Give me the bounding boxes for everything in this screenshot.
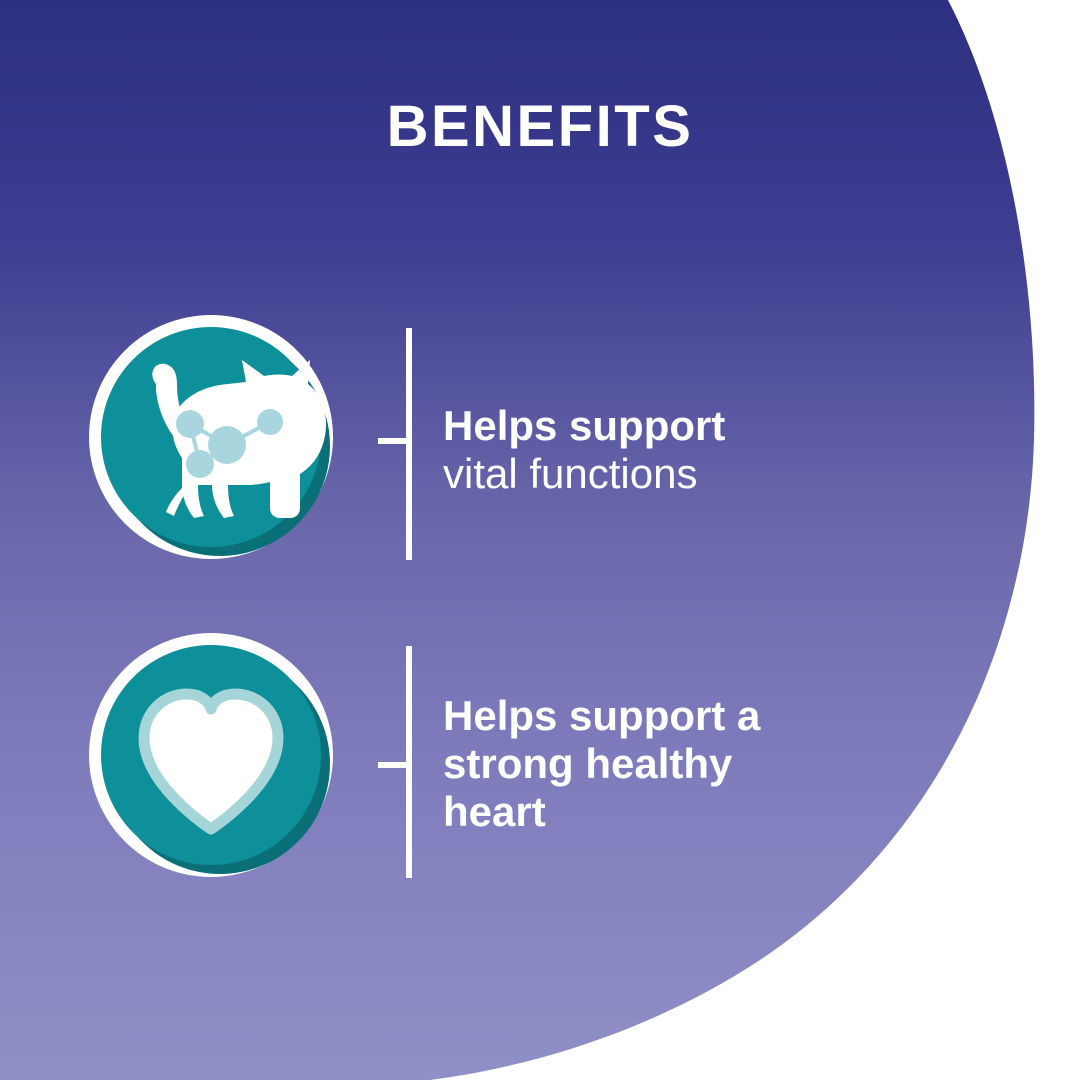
cat-network-icon bbox=[78, 312, 358, 572]
benefit-divider bbox=[378, 646, 412, 878]
heart-icon bbox=[78, 630, 358, 890]
benefit-label-line: Helps support bbox=[443, 402, 863, 450]
benefit-divider bbox=[378, 328, 412, 560]
benefits-infographic: BENEFITS bbox=[0, 0, 1080, 1080]
benefit-icon-badge bbox=[78, 630, 358, 890]
benefit-label-line: vital functions bbox=[443, 450, 863, 498]
benefit-label: Helps support a strong healthy heart bbox=[443, 692, 863, 836]
benefit-label-line: heart bbox=[443, 788, 863, 836]
benefit-item: Helps support a strong healthy heart bbox=[0, 630, 1080, 890]
benefit-icon-badge bbox=[78, 312, 358, 572]
benefit-label: Helps support vital functions bbox=[443, 402, 863, 498]
page-title: BENEFITS bbox=[0, 98, 1080, 156]
page-title-text: BENEFITS bbox=[387, 98, 694, 156]
benefit-item: Helps support vital functions bbox=[0, 312, 1080, 572]
benefit-label-line: Helps support a bbox=[443, 692, 863, 740]
benefit-label-line: strong healthy bbox=[443, 740, 863, 788]
